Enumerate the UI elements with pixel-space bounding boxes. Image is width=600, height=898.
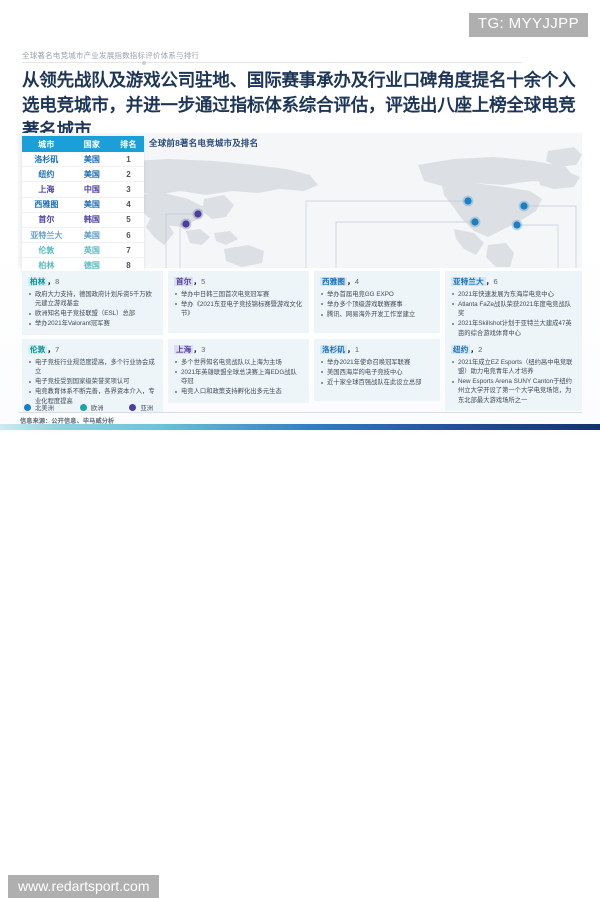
callout-bullet-list: 2021年快速发展为东海岸电竞中心Atlanta FaZe战队荣获2021年度电… [451,290,576,339]
cell-rank: 7 [113,243,144,258]
column-header-rank: 排名 [113,136,144,152]
callout-bullet: 举办2021年使命召唤冠军联赛 [320,358,434,367]
callout-title: 上海，3 [174,344,303,355]
header-divider [22,62,522,63]
seattle-marker[interactable] [464,197,471,204]
slide-canvas: 全球著名电竞城市产业发展指数指标评价体系与排行 从领先战队及游戏公司驻地、国际赛… [0,0,600,432]
callout-bullet-list: 电子竞技行业规范度提高，多个行业协会成立电子竞技受到国家级荣誉奖项认可电竞教育体… [28,358,157,407]
callout-bullet: 2021年成立EZ Esports（纽约高中电竞联盟）助力电竞青年人才培养 [451,358,576,377]
table-row: 西雅图美国4 [22,197,144,212]
callout-bullet: 电子竞技行业规范度提高，多个行业协会成立 [28,358,157,377]
cell-rank: 2 [113,167,144,182]
tg-watermark-tag: TG: MYYJJPP [469,13,588,37]
callout-bullet-list: 多个世界知名电竞战队以上海为主场2021年英雄联盟全球总决赛上海EDG战队夺冠电… [174,358,303,397]
shanghai-marker[interactable] [182,220,189,227]
callout-city: 亚特兰大 [451,277,486,286]
seoul-marker[interactable] [194,210,201,217]
callout-bullet-list: 举办2021年使命召唤冠军联赛美国西海岸的电子竞技中心近十家全球百强战队在此设立… [320,358,434,388]
page-title: 从领先战队及游戏公司驻地、国际赛事承办及行业口碑角度提名十余个入选电竞城市，并进… [22,68,580,143]
callout-bullet: 2021年英雄联盟全球总决赛上海EDG战队夺冠 [174,368,303,387]
legend-label: 亚洲 [140,403,153,412]
legend-dot-icon [80,404,87,411]
legend-dot-icon [24,404,31,411]
cell-city: 首尔 [22,212,71,227]
callout-bullet: New Esports Arena SUNY Canton于纽约州立大学开设了第… [451,377,576,405]
cell-city: 亚特兰大 [22,227,71,242]
callout-bullet-list: 2021年成立EZ Esports（纽约高中电竞联盟）助力电竞青年人才培养New… [451,358,576,406]
cell-country: 美国 [71,197,113,212]
callout-bullet: Atlanta FaZe战队荣获2021年度电竞战队奖 [451,300,576,319]
losangeles-marker[interactable] [471,218,478,225]
accent-bar [0,424,600,430]
cell-rank: 4 [113,197,144,212]
callout-city: 洛杉矶 [320,345,347,354]
callout-city: 伦敦 [28,345,47,354]
cell-city: 洛杉矶 [22,152,71,167]
cell-rank: 3 [113,182,144,197]
ranking-table: 城市 国家 排名 洛杉矶美国1纽约美国2上海中国3西雅图美国4首尔韩国5亚特兰大… [22,136,144,273]
box-atlanta: 亚特兰大，62021年快速发展为东海岸电竞中心Atlanta FaZe战队荣获2… [445,271,582,344]
callout-city: 上海 [174,345,193,354]
callout-rank: 4 [355,277,359,286]
callout-bullet: 近十家全球百强战队在此设立总部 [320,378,434,387]
cell-rank: 5 [113,212,144,227]
atlanta-marker[interactable] [513,221,520,228]
callout-bullet: 腾讯、网易海外开发工作室建立 [320,310,434,319]
table-header-row: 城市 国家 排名 [22,136,144,152]
callout-rank: 1 [355,345,359,354]
callout-city: 纽约 [451,345,470,354]
callout-title: 亚特兰大，6 [451,276,576,287]
box-seattle: 西雅图，4举办首届电竞GG EXPO举办多个顶级游戏联赛赛事腾讯、网易海外开发工… [314,271,440,333]
callout-rank: 7 [55,345,59,354]
cell-country: 英国 [71,243,113,258]
cell-city: 伦敦 [22,243,71,258]
callout-rank: 2 [478,345,482,354]
cell-city: 西雅图 [22,197,71,212]
callout-title: 柏林，8 [28,276,157,287]
source-divider [18,412,582,413]
legend-label: 欧洲 [91,403,104,412]
callout-bullet: 举办首届电竞GG EXPO [320,290,434,299]
callout-bullet: 举办中日韩三国首次电竞冠军赛 [174,290,303,299]
callout-bullet: 2021年Skillshot计划于亚特兰大建成47英亩的综合游戏体育中心 [451,319,576,338]
legend-item: 欧洲 [80,403,104,412]
cell-city: 上海 [22,182,71,197]
bottom-bar: www.redartsport.com [0,432,600,480]
legend-dot-icon [129,404,136,411]
box-berlin: 柏林，8政府大力支持，德国政府计划斥资5千万欧元建立游戏基金欧洲知名电子竞技联盟… [22,271,163,335]
table-row: 亚特兰大美国6 [22,227,144,242]
box-losangeles: 洛杉矶，1举办2021年使命召唤冠军联赛美国西海岸的电子竞技中心近十家全球百强战… [314,339,440,401]
callout-title: 西雅图，4 [320,276,434,287]
callout-bullet: 多个世界知名电竞战队以上海为主场 [174,358,303,367]
callout-bullet: 电子竞技受到国家级荣誉奖项认可 [28,377,157,386]
box-shanghai: 上海，3多个世界知名电竞战队以上海为主场2021年英雄联盟全球总决赛上海EDG战… [168,339,309,403]
legend-item: 亚洲 [129,403,153,412]
cell-rank: 6 [113,227,144,242]
box-newyork: 纽约，22021年成立EZ Esports（纽约高中电竞联盟）助力电竞青年人才培… [445,339,582,411]
callout-bullet: 政府大力支持，德国政府计划斥资5千万欧元建立游戏基金 [28,290,157,309]
callout-bullet-list: 举办首届电竞GG EXPO举办多个顶级游戏联赛赛事腾讯、网易海外开发工作室建立 [320,290,434,320]
callout-bullet: 举办2021年Valorant冠军赛 [28,319,157,328]
callout-city: 首尔 [174,277,193,286]
legend-label: 北美洲 [35,403,54,412]
callout-bullet-list: 政府大力支持，德国政府计划斥资5千万欧元建立游戏基金欧洲知名电子竞技联盟（ESL… [28,290,157,329]
callout-rank: 3 [201,345,205,354]
table-row: 洛杉矶美国1 [22,152,144,167]
callout-rank: 6 [494,277,498,286]
callout-city: 西雅图 [320,277,347,286]
cell-country: 美国 [71,152,113,167]
callout-bullet: 举办多个顶级游戏联赛赛事 [320,300,434,309]
callout-rank: 8 [55,277,59,286]
box-seoul: 首尔，5举办中日韩三国首次电竞冠军赛举办《2021东亚电子竞技锦标赛暨游戏文化节… [168,271,309,333]
site-watermark: www.redartsport.com [8,875,159,898]
table-row: 上海中国3 [22,182,144,197]
callout-title: 伦敦，7 [28,344,157,355]
column-header-country: 国家 [71,136,113,152]
callout-title: 纽约，2 [451,344,576,355]
column-header-city: 城市 [22,136,71,152]
callout-rank: 5 [201,277,205,286]
legend-item: 北美洲 [24,403,54,412]
callout-bullet: 美国西海岸的电子竞技中心 [320,368,434,377]
callout-bullet: 举办《2021东亚电子竞技锦标赛暨游戏文化节》 [174,300,303,319]
table-row: 首尔韩国5 [22,212,144,227]
cell-country: 韩国 [71,212,113,227]
cell-country: 中国 [71,182,113,197]
callout-city: 柏林 [28,277,47,286]
newyork-marker[interactable] [520,202,527,209]
cell-country: 美国 [71,227,113,242]
callout-title: 首尔，5 [174,276,303,287]
map-legend: 北美洲欧洲亚洲 [24,403,153,412]
table-row: 纽约美国2 [22,167,144,182]
slide-kicker: 全球著名电竞城市产业发展指数指标评价体系与排行 [22,50,199,61]
table-row: 伦敦英国7 [22,243,144,258]
box-london: 伦敦，7电子竞技行业规范度提高，多个行业协会成立电子竞技受到国家级荣誉奖项认可电… [22,339,163,412]
cell-city: 纽约 [22,167,71,182]
cell-rank: 1 [113,152,144,167]
callout-bullet: 2021年快速发展为东海岸电竞中心 [451,290,576,299]
callout-bullet: 电竞人口和政策支持孵化出多元生态 [174,387,303,396]
callout-title: 洛杉矶，1 [320,344,434,355]
cell-country: 美国 [71,167,113,182]
callout-bullet: 欧洲知名电子竞技联盟（ESL）总部 [28,309,157,318]
map-title: 全球前8著名电竞城市及排名 [149,137,258,149]
callout-bullet-list: 举办中日韩三国首次电竞冠军赛举办《2021东亚电子竞技锦标赛暨游戏文化节》 [174,290,303,319]
